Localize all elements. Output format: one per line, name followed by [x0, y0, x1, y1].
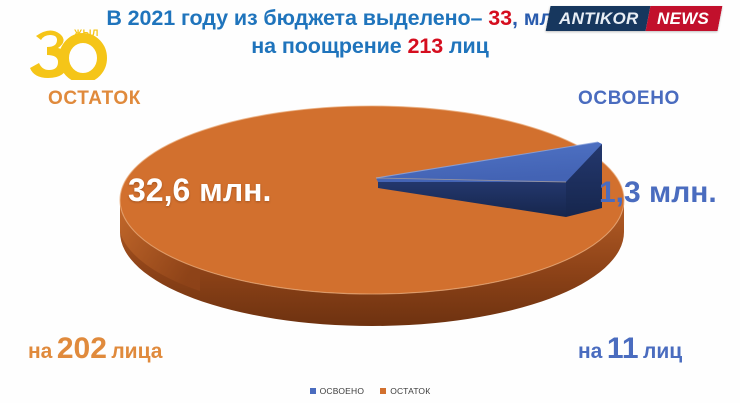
pie-slice-ostatok [120, 106, 624, 326]
persons-right-suffix: лиц [643, 340, 682, 363]
persons-label-osvoeno: на 11 лиц [578, 332, 682, 366]
persons-left-suffix: лица [111, 340, 162, 363]
legend-label-osvoeno: ОСВОЕНО [320, 386, 365, 396]
headline-line2-tail: лиц [449, 34, 489, 58]
legend-swatch-icon [310, 388, 316, 394]
headline-amount-persons: 213 [408, 34, 444, 58]
value-label-ostatok: 32,6 млн. [128, 172, 271, 209]
persons-right-count: 11 [607, 332, 639, 365]
antikor-logo-dark-block: ANTIKOR [546, 6, 650, 31]
news-word: NEWS [657, 10, 709, 27]
pie-chart [0, 96, 740, 326]
infographic-canvas: ЖЫЛ В 2021 году из бюджета выделено– 33,… [0, 0, 740, 403]
legend-swatch-icon [380, 388, 386, 394]
antikor-logo-red-block: NEWS [645, 6, 722, 31]
persons-right-prefix: на [578, 340, 602, 363]
legend-label-ostatok: ОСТАТОК [390, 386, 430, 396]
antikor-news-logo: ANTIKOR NEWS [546, 6, 723, 31]
chart-legend: ОСВОЕНО ОСТАТОК [0, 386, 740, 396]
persons-left-prefix: на [28, 340, 52, 363]
headline-line2-text: на поощрение [251, 34, 401, 58]
headline-amount-total: 33 [488, 6, 512, 30]
antikor-word: ANTIKOR [559, 10, 639, 27]
persons-label-ostatok: на 202 лица [28, 332, 162, 366]
legend-item-osvoeno: ОСВОЕНО [310, 386, 365, 396]
legend-item-ostatok: ОСТАТОК [380, 386, 430, 396]
persons-left-count: 202 [57, 332, 107, 365]
headline-line-2: на поощрение 213 лиц [0, 34, 740, 58]
value-label-osvoeno: 1,3 млн. [599, 176, 717, 210]
headline-line1-text: В 2021 году из бюджета выделено– [106, 6, 482, 30]
